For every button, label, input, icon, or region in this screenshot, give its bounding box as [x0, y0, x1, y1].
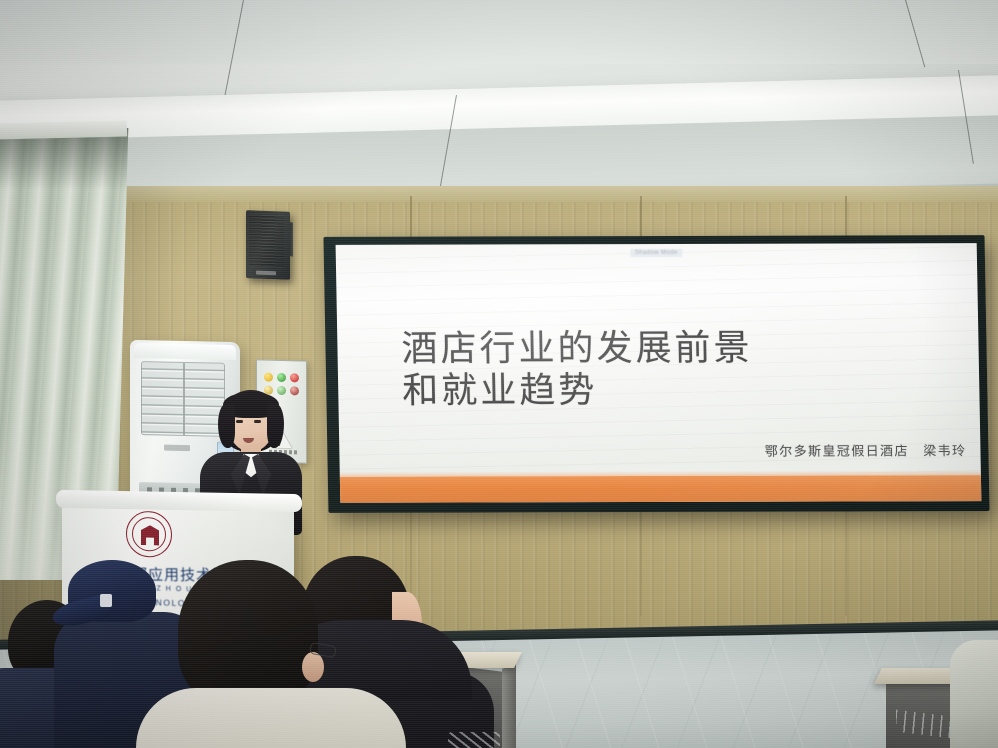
speaker-brand-badge: [256, 271, 276, 276]
lecture-hall-photo: Shadow Mode 酒店行业的发展前景 和就业趋势 鄂尔多斯皇冠假日酒店 梁…: [0, 0, 998, 748]
presenter-eye-right: [254, 420, 261, 423]
presenter-hair-left: [218, 404, 235, 448]
desk-side-panel: [502, 663, 516, 748]
audience-member: [950, 640, 998, 748]
ceiling-upper-plane: [0, 0, 998, 64]
curtain-rail: [0, 120, 127, 139]
hoodie-back-print: [448, 732, 500, 748]
slide-title-line-1: 酒店行业的发展前景: [401, 327, 947, 371]
university-crest-icon: [126, 511, 172, 558]
wall-speaker-icon: [246, 210, 290, 280]
ac-brand-logo: [164, 445, 190, 452]
podium-top-surface: [56, 490, 302, 512]
ac-top-cover: [134, 343, 236, 360]
projection-screen[interactable]: Shadow Mode 酒店行业的发展前景 和就业趋势 鄂尔多斯皇冠假日酒店 梁…: [323, 235, 989, 513]
slide-accent-band: [340, 475, 982, 503]
slide-watermark: Shadow Mode: [630, 249, 683, 257]
speaker-grille: [249, 214, 284, 267]
presenter-eye-left: [236, 420, 243, 423]
audience-torso: [136, 688, 406, 748]
slide-title-line-2: 和就业趋势: [402, 370, 948, 414]
audience-ear: [302, 652, 324, 682]
audience-member: [150, 560, 400, 748]
audience-torso: [950, 640, 998, 748]
audience-head: [178, 560, 318, 708]
slide-title: 酒店行业的发展前景 和就业趋势: [401, 327, 948, 413]
presenter-hair-right: [267, 404, 284, 448]
indicator-light-red: [290, 373, 299, 382]
cap-logo: [100, 594, 112, 607]
indicator-light-yellow: [264, 373, 273, 382]
slide-surface: Shadow Mode 酒店行业的发展前景 和就业趋势 鄂尔多斯皇冠假日酒店 梁…: [336, 243, 982, 503]
slide-subtitle: 鄂尔多斯皇冠假日酒店 梁韦玲: [765, 440, 967, 460]
indicator-light-green: [277, 373, 286, 382]
